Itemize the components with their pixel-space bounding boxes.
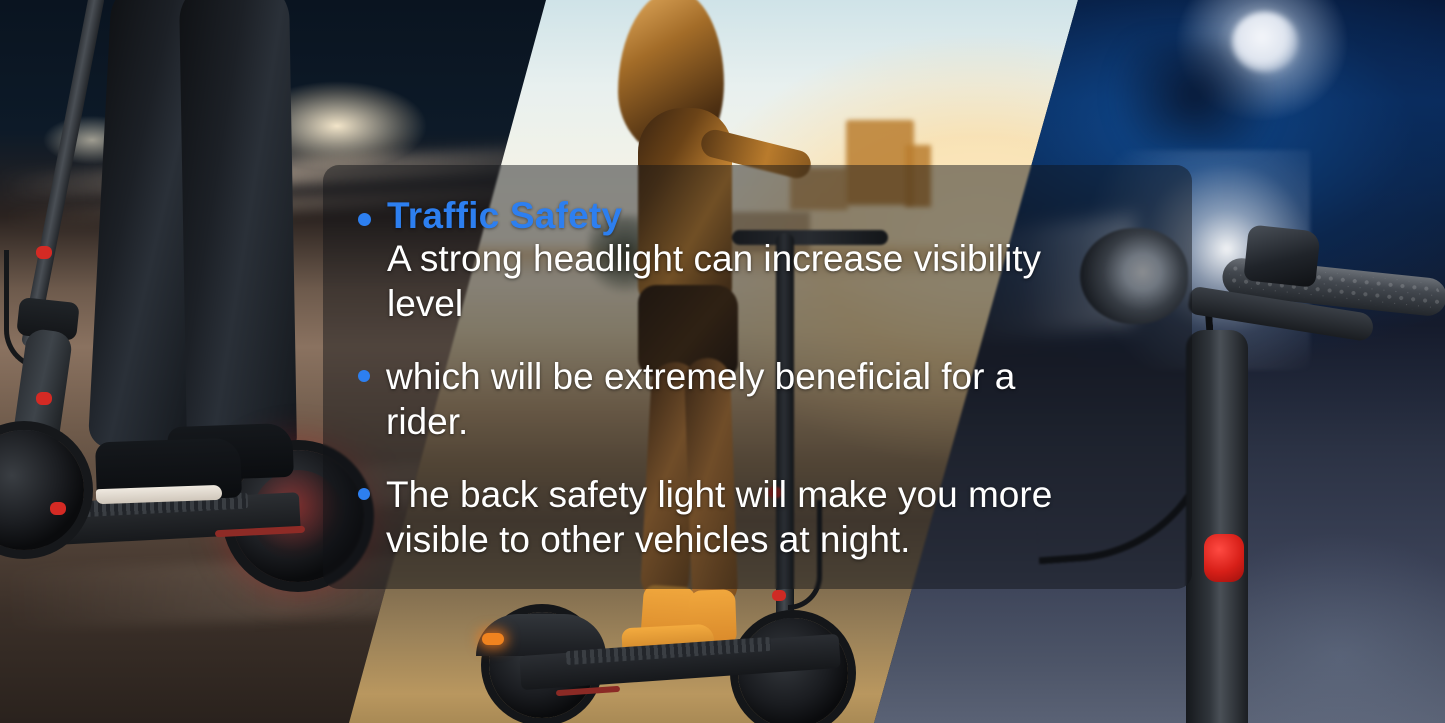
red-accent: [50, 502, 66, 515]
rider-leg: [179, 0, 297, 461]
handlebar-clamp: [1243, 224, 1320, 287]
bullet-line: rider.: [386, 399, 1164, 444]
bullet-dot-icon: [358, 488, 370, 500]
red-cable-grommet: [1204, 534, 1244, 582]
bullet-line: The back safety light will make you more: [386, 472, 1164, 517]
red-accent: [772, 590, 786, 601]
bullet-item-back-safety-light: The back safety light will make you more…: [358, 472, 1164, 562]
bullet-line: visible to other vehicles at night.: [386, 517, 1164, 562]
scooter-stem-post: [1186, 330, 1248, 723]
red-accent: [36, 392, 52, 405]
bullet-item-rider-benefit: which will be extremely beneficial for a…: [358, 354, 1164, 444]
bullet-line: which will be extremely beneficial for a: [386, 354, 1164, 399]
bullet-dot-icon: [358, 213, 371, 226]
bullet-line: level: [387, 281, 1164, 326]
bullet-line: A strong headlight can increase visibili…: [387, 236, 1164, 281]
bullet-dot-icon: [358, 370, 370, 382]
bullet-heading: Traffic Safety: [387, 195, 622, 236]
tail-light: [482, 633, 504, 645]
bullet-item-traffic-safety: Traffic Safety A strong headlight can in…: [358, 197, 1164, 326]
bullet-text: which will be extremely beneficial for a…: [386, 354, 1164, 444]
red-accent: [36, 246, 52, 259]
bullet-text: The back safety light will make you more…: [386, 472, 1164, 562]
feature-text-overlay: Traffic Safety A strong headlight can in…: [323, 165, 1192, 589]
product-feature-banner: Traffic Safety A strong headlight can in…: [0, 0, 1445, 723]
bullet-text: Traffic Safety A strong headlight can in…: [387, 197, 1164, 326]
moon-icon: [1232, 12, 1298, 72]
